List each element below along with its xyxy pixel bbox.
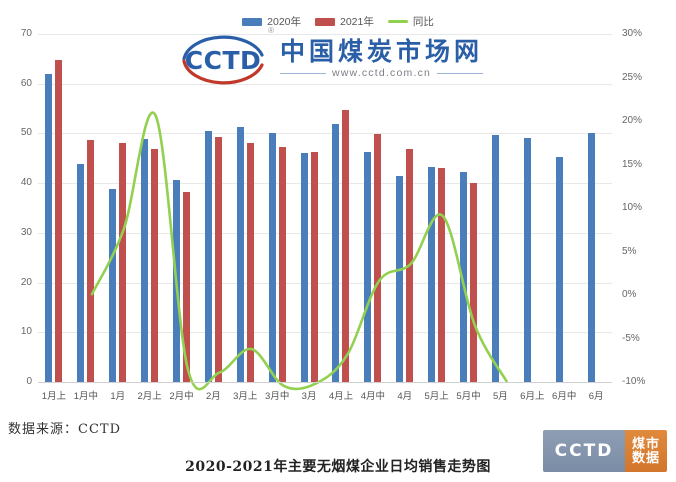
chart-root: 2020年 2021年 同比 010203040506070 -10%-5%0%… bbox=[0, 0, 676, 482]
legend-item-2021[interactable]: 2021年 bbox=[315, 14, 374, 29]
x-axis-tick-label: 1月上 bbox=[38, 384, 70, 402]
y-axis-right-tick: 10% bbox=[622, 203, 642, 213]
x-axis-tick-label: 4月上 bbox=[325, 384, 357, 402]
x-axis-tick-label: 1月 bbox=[102, 384, 134, 402]
badge-line-2: 数据 bbox=[632, 451, 660, 465]
legend-label-2020: 2020年 bbox=[267, 14, 301, 29]
y-axis-left-tick: 0 bbox=[26, 377, 32, 387]
y-axis-right-tick: 20% bbox=[622, 116, 642, 126]
legend-swatch-2021 bbox=[315, 18, 335, 26]
yoy-line-series bbox=[76, 68, 650, 416]
y-axis-left-tick: 40 bbox=[21, 178, 32, 188]
x-axis-tick-label: 6月上 bbox=[516, 384, 548, 402]
y-axis-right: -10%-5%0%5%10%15%20%25%30% bbox=[616, 34, 660, 382]
x-axis-tick-label: 1月中 bbox=[70, 384, 102, 402]
x-axis-tick-label: 2月中 bbox=[166, 384, 198, 402]
legend-line-yoy bbox=[388, 20, 408, 23]
y-axis-left-tick: 30 bbox=[21, 228, 32, 238]
y-axis-left-tick: 70 bbox=[21, 29, 32, 39]
badge-coal-data-label: 煤市 数据 bbox=[625, 430, 667, 472]
y-axis-left-tick: 60 bbox=[21, 79, 32, 89]
plot-area bbox=[38, 34, 612, 382]
y-axis-left: 010203040506070 bbox=[2, 34, 36, 382]
y-axis-right-tick: 15% bbox=[622, 160, 642, 170]
y-axis-left-tick: 20 bbox=[21, 278, 32, 288]
y-axis-right-tick: -5% bbox=[622, 334, 640, 344]
chart-legend: 2020年 2021年 同比 bbox=[0, 14, 676, 29]
x-axis-tick-label: 6月 bbox=[580, 384, 612, 402]
y-axis-right-tick: 30% bbox=[622, 29, 642, 39]
legend-item-2020[interactable]: 2020年 bbox=[242, 14, 301, 29]
x-axis-tick-label: 3月上 bbox=[229, 384, 261, 402]
legend-item-yoy[interactable]: 同比 bbox=[388, 14, 434, 29]
y-axis-left-tick: 10 bbox=[21, 327, 32, 337]
bar-2021[interactable] bbox=[55, 60, 62, 382]
x-axis-tick-label: 2月 bbox=[197, 384, 229, 402]
legend-label-yoy: 同比 bbox=[413, 14, 434, 29]
x-axis-labels: 1月上1月中1月2月上2月中2月3月上3月中3月4月上4月中4月5月上5月中5月… bbox=[38, 384, 612, 402]
x-axis-tick-label: 4月 bbox=[389, 384, 421, 402]
x-axis-tick-label: 3月 bbox=[293, 384, 325, 402]
cctd-data-badge: CCTD 煤市 数据 bbox=[543, 430, 667, 472]
y-axis-right-tick: 5% bbox=[622, 247, 636, 257]
y-axis-left-tick: 50 bbox=[21, 128, 32, 138]
yoy-line-path bbox=[92, 113, 507, 390]
x-axis-tick-label: 5月中 bbox=[453, 384, 485, 402]
x-axis-tick-label: 2月上 bbox=[134, 384, 166, 402]
y-axis-right-tick: 25% bbox=[622, 73, 642, 83]
x-axis-tick-label: 5月 bbox=[484, 384, 516, 402]
y-axis-right-tick: 0% bbox=[622, 290, 636, 300]
x-axis-tick-label: 4月中 bbox=[357, 384, 389, 402]
y-axis-right-tick: -10% bbox=[622, 377, 645, 387]
legend-label-2021: 2021年 bbox=[340, 14, 374, 29]
x-axis-tick-label: 5月上 bbox=[421, 384, 453, 402]
badge-cctd-label: CCTD bbox=[543, 430, 625, 472]
data-source-label: 数据来源：CCTD bbox=[8, 418, 121, 437]
x-axis-tick-label: 6月中 bbox=[548, 384, 580, 402]
legend-swatch-2020 bbox=[242, 18, 262, 26]
bar-2020[interactable] bbox=[45, 74, 52, 382]
badge-line-1: 煤市 bbox=[632, 437, 660, 451]
bar-group bbox=[38, 34, 70, 382]
x-axis-tick-label: 3月中 bbox=[261, 384, 293, 402]
axis-baseline bbox=[38, 382, 612, 383]
